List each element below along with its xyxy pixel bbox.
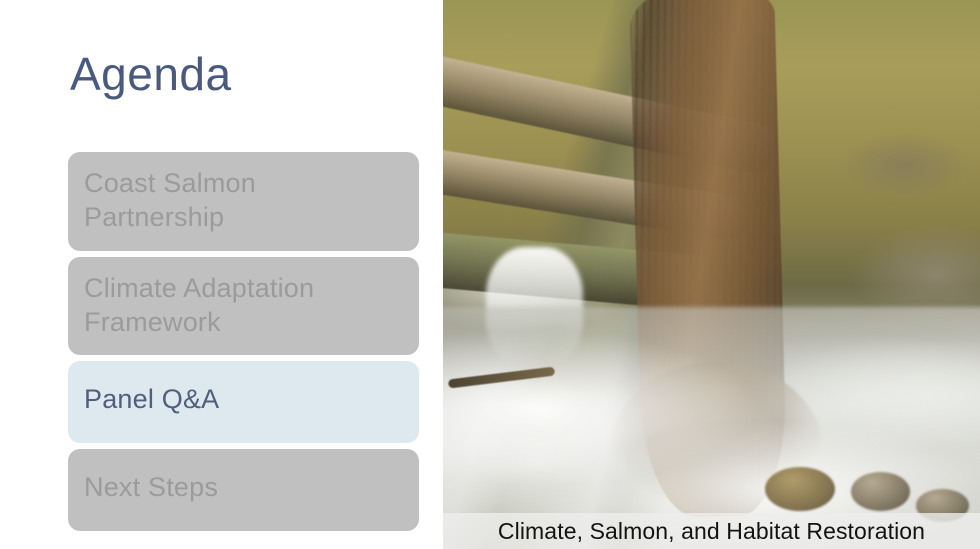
agenda-item-climate-adaptation-framework[interactable]: Climate Adaptation Framework xyxy=(68,257,419,356)
agenda-item-label: Next Steps xyxy=(84,470,218,504)
agenda-item-label: Coast Salmon Partnership xyxy=(84,166,403,235)
photo-caption-band: Climate, Salmon, and Habitat Restoration xyxy=(443,513,980,549)
presentation-slide: Agenda Coast Salmon Partnership Climate … xyxy=(0,0,980,549)
rock xyxy=(851,472,910,510)
page-title: Agenda xyxy=(70,50,232,98)
photo-pane: Climate, Salmon, and Habitat Restoration xyxy=(443,0,980,549)
agenda-list: Coast Salmon Partnership Climate Adaptat… xyxy=(68,152,419,531)
agenda-item-label: Climate Adaptation Framework xyxy=(84,271,403,340)
agenda-item-panel-qa[interactable]: Panel Q&A xyxy=(68,361,419,443)
photo-caption: Climate, Salmon, and Habitat Restoration xyxy=(498,518,925,545)
creek-photo xyxy=(443,0,980,549)
agenda-panel: Agenda Coast Salmon Partnership Climate … xyxy=(0,0,443,549)
agenda-item-next-steps[interactable]: Next Steps xyxy=(68,449,419,531)
rock xyxy=(765,467,835,511)
agenda-item-coast-salmon-partnership[interactable]: Coast Salmon Partnership xyxy=(68,152,419,251)
agenda-item-label: Panel Q&A xyxy=(84,382,219,416)
